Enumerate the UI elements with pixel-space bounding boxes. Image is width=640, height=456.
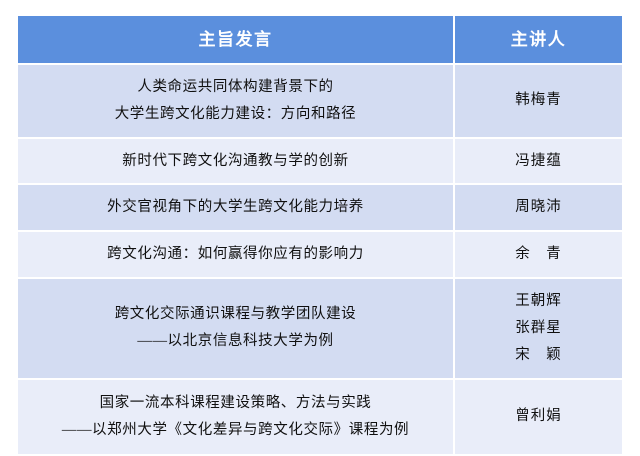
keynote-schedule-table: 主旨发言 主讲人 人类命运共同体构建背景下的 大学生跨文化能力建设：方向和路径 … <box>18 16 622 456</box>
speaker-cell: 曾利娟 <box>455 380 622 456</box>
topic-cell: 人类命运共同体构建背景下的 大学生跨文化能力建设：方向和路径 <box>18 65 455 139</box>
topic-text: 人类命运共同体构建背景下的 大学生跨文化能力建设：方向和路径 <box>18 65 453 137</box>
speaker-cell: 余 青 <box>455 232 622 279</box>
speaker-cell: 冯捷蕴 <box>455 139 622 186</box>
topic-line: 大学生跨文化能力建设：方向和路径 <box>24 101 447 128</box>
speaker-text: 王朝辉 张群星 宋 颖 <box>455 279 622 377</box>
topic-text: 外交官视角下的大学生跨文化能力培养 <box>18 185 453 230</box>
topic-line: 外交官视角下的大学生跨文化能力培养 <box>24 194 447 221</box>
table-row: 国家一流本科课程建设策略、方法与实践 ——以郑州大学《文化差异与跨文化交际》课程… <box>18 380 622 456</box>
speaker-line: 曾利娟 <box>459 403 618 430</box>
speaker-line: 韩梅青 <box>459 87 618 114</box>
speaker-cell: 韩梅青 <box>455 65 622 139</box>
topic-cell: 新时代下跨文化沟通教与学的创新 <box>18 139 455 186</box>
table-body: 人类命运共同体构建背景下的 大学生跨文化能力建设：方向和路径 韩梅青 新时代下跨… <box>18 65 622 456</box>
topic-line: ——以郑州大学《文化差异与跨文化交际》课程为例 <box>24 417 447 444</box>
topic-text: 新时代下跨文化沟通教与学的创新 <box>18 139 453 184</box>
topic-text: 跨文化交际通识课程与教学团队建设 ——以北京信息科技大学为例 <box>18 292 453 364</box>
topic-text: 国家一流本科课程建设策略、方法与实践 ——以郑州大学《文化差异与跨文化交际》课程… <box>18 381 453 453</box>
speaker-text: 曾利娟 <box>455 394 622 439</box>
speaker-cell: 周晓沛 <box>455 185 622 232</box>
speaker-line: 宋 颖 <box>459 342 618 369</box>
topic-line: 跨文化沟通：如何赢得你应有的影响力 <box>24 241 447 268</box>
table-row: 新时代下跨文化沟通教与学的创新 冯捷蕴 <box>18 139 622 186</box>
speaker-line: 余 青 <box>459 241 618 268</box>
topic-cell: 跨文化沟通：如何赢得你应有的影响力 <box>18 232 455 279</box>
column-header-speaker: 主讲人 <box>455 16 622 65</box>
topic-cell: 外交官视角下的大学生跨文化能力培养 <box>18 185 455 232</box>
page-root: 主旨发言 主讲人 人类命运共同体构建背景下的 大学生跨文化能力建设：方向和路径 … <box>0 0 640 439</box>
topic-text: 跨文化沟通：如何赢得你应有的影响力 <box>18 232 453 277</box>
table-row: 人类命运共同体构建背景下的 大学生跨文化能力建设：方向和路径 韩梅青 <box>18 65 622 139</box>
topic-line: ——以北京信息科技大学为例 <box>24 328 447 355</box>
speaker-text: 冯捷蕴 <box>455 139 622 184</box>
table-row: 外交官视角下的大学生跨文化能力培养 周晓沛 <box>18 185 622 232</box>
header-row: 主旨发言 主讲人 <box>18 16 622 65</box>
topic-cell: 跨文化交际通识课程与教学团队建设 ——以北京信息科技大学为例 <box>18 279 455 379</box>
topic-line: 人类命运共同体构建背景下的 <box>24 74 447 101</box>
topic-line: 国家一流本科课程建设策略、方法与实践 <box>24 390 447 417</box>
topic-line: 新时代下跨文化沟通教与学的创新 <box>24 148 447 175</box>
speaker-line: 冯捷蕴 <box>459 148 618 175</box>
column-header-topic: 主旨发言 <box>18 16 455 65</box>
speaker-line: 王朝辉 <box>459 288 618 315</box>
speaker-line: 张群星 <box>459 315 618 342</box>
speaker-text: 韩梅青 <box>455 78 622 123</box>
speaker-cell: 王朝辉 张群星 宋 颖 <box>455 279 622 379</box>
topic-cell: 国家一流本科课程建设策略、方法与实践 ——以郑州大学《文化差异与跨文化交际》课程… <box>18 380 455 456</box>
speaker-text: 余 青 <box>455 232 622 277</box>
table-row: 跨文化沟通：如何赢得你应有的影响力 余 青 <box>18 232 622 279</box>
speaker-text: 周晓沛 <box>455 185 622 230</box>
topic-line: 跨文化交际通识课程与教学团队建设 <box>24 301 447 328</box>
table-header: 主旨发言 主讲人 <box>18 16 622 65</box>
speaker-line: 周晓沛 <box>459 194 618 221</box>
table-row: 跨文化交际通识课程与教学团队建设 ——以北京信息科技大学为例 王朝辉 张群星 宋… <box>18 279 622 379</box>
